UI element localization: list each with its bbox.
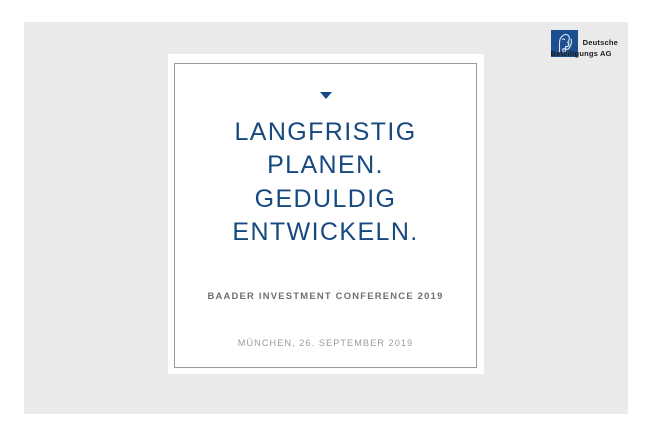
headline-line-1: LANGFRISTIG (181, 116, 470, 149)
event-date: MÜNCHEN, 26. SEPTEMBER 2019 (175, 338, 476, 348)
triangle-down-icon (320, 92, 332, 99)
marker-wrap (320, 92, 332, 102)
logo-wordmark-line-1: Deutsche (583, 38, 618, 49)
title-frame: LANGFRISTIG PLANEN. GEDULDIG ENTWICKELN.… (174, 63, 477, 368)
slide-canvas: Deutsche Beteiligungs AG LANGFRISTIG PLA… (24, 22, 628, 414)
logo-wordmark-line-2: Beteiligungs AG (551, 49, 618, 60)
headline-line-3: GEDULDIG (181, 183, 470, 216)
event-subtitle: BAADER INVESTMENT CONFERENCE 2019 (175, 290, 476, 301)
headline-line-4: ENTWICKELN. (181, 216, 470, 249)
page-title: LANGFRISTIG PLANEN. GEDULDIG ENTWICKELN. (175, 116, 476, 249)
title-card: LANGFRISTIG PLANEN. GEDULDIG ENTWICKELN.… (168, 54, 484, 374)
headline-line-2: PLANEN. (181, 149, 470, 182)
logo-wordmark: Deutsche Beteiligungs AG (583, 30, 618, 60)
company-logo: Deutsche Beteiligungs AG (551, 30, 618, 60)
